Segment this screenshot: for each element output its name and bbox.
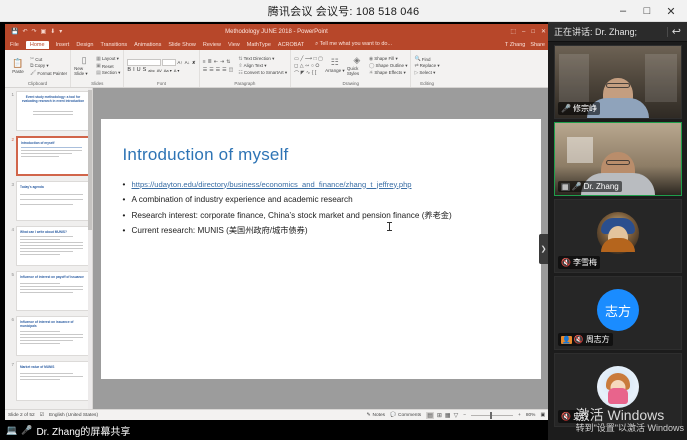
shape-flow-icon[interactable]: ◤ bbox=[301, 70, 305, 77]
ribbon-group-drawing: ▭╱⟶□▢ ◻△∾○⭘ ⌒◤∿{[ ☷ Arrange ▾ ◈ bbox=[291, 50, 411, 87]
screen-share-label: Dr. Zhang的屏幕共享 bbox=[36, 423, 130, 438]
participant-name: 周志方 bbox=[586, 334, 610, 345]
shape-arrow-icon[interactable]: ⟶ bbox=[305, 56, 312, 62]
zoom-out-button[interactable]: − bbox=[463, 413, 466, 418]
avatar-body bbox=[608, 388, 628, 404]
tab-mathtype[interactable]: MathType bbox=[247, 42, 271, 48]
smartart-icon: ☷ bbox=[238, 70, 242, 76]
ribbon-group-clipboard: 📋 Paste ✂Cut ⧉Copy ▾ 🖌Format Painter Cli… bbox=[5, 50, 71, 87]
paragraph-group-label: Paragraph bbox=[203, 81, 287, 87]
thumbnail-scrollbar[interactable] bbox=[88, 88, 92, 409]
participant-nametag: 🔇 李雪梅 bbox=[558, 256, 600, 269]
current-slide[interactable]: Introduction of myself https://udayton.e… bbox=[101, 119, 541, 379]
close-button[interactable]: ✕ bbox=[659, 0, 683, 22]
tab-acrobat[interactable]: ACROBAT bbox=[278, 42, 304, 48]
screen-share-icon: ▦ bbox=[561, 183, 570, 191]
strikethrough-button[interactable]: abc bbox=[148, 68, 154, 73]
zoom-slider-knob[interactable] bbox=[490, 412, 492, 419]
grow-font-button[interactable]: A↑ bbox=[177, 60, 182, 65]
thumbnail-scroll-thumb[interactable] bbox=[88, 90, 92, 230]
cut-button[interactable]: ✂Cut bbox=[30, 56, 67, 62]
window-controls: – □ ✕ bbox=[611, 0, 683, 22]
slide-bullet-link[interactable]: https://udayton.edu/directory/business/e… bbox=[123, 179, 519, 191]
participant-nametag: 🔇 史玲 bbox=[558, 410, 592, 423]
slide-thumbnail-4[interactable]: What can I write about MUNIS? bbox=[16, 226, 90, 266]
thumbnail-number: 6 bbox=[7, 316, 14, 356]
paintbrush-icon: 🖌 bbox=[30, 70, 36, 76]
layout-icon: ▦ bbox=[96, 56, 101, 62]
text-direction-button[interactable]: ⇅Text Direction ▾ bbox=[238, 56, 287, 62]
paste-button[interactable]: 📋 Paste bbox=[8, 59, 28, 74]
shape-line-icon[interactable]: ╱ bbox=[300, 56, 303, 62]
shrink-font-button[interactable]: A↓ bbox=[185, 60, 190, 65]
start-slideshow-icon[interactable]: ⬇ bbox=[50, 28, 55, 35]
font-name-input[interactable] bbox=[127, 59, 161, 66]
format-painter-button[interactable]: 🖌Format Painter bbox=[30, 70, 67, 76]
header-divider bbox=[667, 27, 668, 37]
shape-fill-button[interactable]: ◉Shape Fill ▾ bbox=[369, 56, 408, 62]
slide-bullet: Research interest: corporate finance, Ch… bbox=[123, 210, 519, 222]
new-slide-button[interactable]: ▯ New Slide ▾ bbox=[74, 56, 94, 77]
zoom-level[interactable]: 80% bbox=[526, 413, 536, 418]
search-icon: 🔍 bbox=[414, 56, 420, 62]
maximize-button[interactable]: □ bbox=[635, 0, 659, 22]
ribbon-group-paragraph: ≡ ≣ ⇤ ⇥ ⇅ ☰ ☰ ☰ bbox=[200, 50, 291, 87]
participant-name: Dr. Zhang bbox=[584, 182, 619, 191]
slide-thumbnail-5[interactable]: Influence of interest on payoff of issua… bbox=[16, 271, 90, 311]
text-cursor bbox=[389, 222, 390, 231]
meeting-title: 腾讯会议 会议号: 108 518 046 bbox=[268, 3, 420, 19]
drawing-group-label: Drawing bbox=[294, 81, 407, 87]
copy-button[interactable]: ⧉Copy ▾ bbox=[30, 63, 67, 69]
profile-link[interactable]: https://udayton.edu/directory/business/e… bbox=[132, 180, 412, 189]
avatar bbox=[597, 212, 639, 254]
participant-nametag: 🎤 修宗峥 bbox=[558, 102, 600, 115]
thumbnail-row[interactable]: 4 What can I write about MUNIS? bbox=[7, 226, 90, 266]
avatar: 志方 bbox=[597, 289, 639, 331]
line-spacing-button[interactable]: ⇅ bbox=[226, 59, 230, 65]
align-center-button[interactable]: ☰ bbox=[209, 67, 213, 73]
powerpoint-workspace: 1 Event study methodology: a tool for ev… bbox=[5, 88, 548, 409]
ribbon-group-editing: 🔍Find ⇄Replace ▾ ▷Select ▾ Editing bbox=[411, 50, 442, 87]
reset-icon: ▣ bbox=[96, 63, 101, 69]
comment-icon: 💬 bbox=[390, 413, 396, 418]
shape-arc-icon[interactable]: ⌒ bbox=[294, 70, 299, 77]
copy-icon: ⧉ bbox=[30, 63, 34, 69]
slide-canvas-area: Introduction of myself https://udayton.e… bbox=[93, 88, 548, 409]
video-tile-participant-5[interactable]: 🔇 史玲 bbox=[554, 353, 682, 427]
comments-button[interactable]: 💬Comments bbox=[390, 413, 421, 418]
powerpoint-document-title: Methodology JUNE 2018 - PowerPoint bbox=[5, 29, 548, 35]
tab-transitions[interactable]: Transitions bbox=[100, 42, 127, 48]
microphone-muted-icon: 🔇 bbox=[561, 258, 571, 267]
participant-name: 李雪梅 bbox=[573, 257, 597, 268]
spell-check-icon[interactable]: ☑ bbox=[40, 413, 44, 418]
change-case-button[interactable]: Aa ▾ bbox=[164, 68, 172, 73]
thumbnail-title: Influence of interest on issuance of mun… bbox=[20, 320, 86, 328]
screen-share-indicator-bar: 💻 🎤 Dr. Zhang的屏幕共享 bbox=[0, 420, 548, 440]
slide-bullet: A combination of industry experience and… bbox=[123, 194, 519, 206]
ppt-restore-button[interactable]: □ bbox=[531, 29, 535, 35]
tab-slide-show[interactable]: Slide Show bbox=[168, 42, 196, 48]
avatar-initials: 志方 bbox=[605, 301, 631, 320]
shape-square-icon[interactable]: □ bbox=[314, 56, 317, 62]
convert-smartart-button[interactable]: ☷Convert to SmartArt ▾ bbox=[238, 70, 287, 76]
clipboard-group-label: Clipboard bbox=[8, 81, 67, 87]
underline-button[interactable]: U bbox=[137, 67, 141, 73]
powerpoint-window-controls: ⬚ – □ ✕ bbox=[510, 28, 546, 35]
participant-nametag: ▦ 🎤 Dr. Zhang bbox=[558, 181, 622, 192]
host-badge-icon: 👤 bbox=[561, 336, 572, 344]
slide-thumbnail-2[interactable]: Introduction of myself bbox=[16, 136, 90, 176]
thumbnail-number: 5 bbox=[7, 271, 14, 311]
zoom-slider[interactable] bbox=[471, 415, 513, 416]
arrange-icon: ☷ bbox=[331, 58, 339, 67]
glasses-shape bbox=[606, 160, 630, 165]
account-name[interactable]: T Zhang bbox=[505, 42, 525, 48]
align-left-button[interactable]: ☰ bbox=[203, 67, 207, 73]
arrange-button[interactable]: ☷ Arrange ▾ bbox=[325, 58, 345, 74]
shape-wave-icon[interactable]: ∿ bbox=[306, 70, 310, 77]
tell-me-search[interactable]: ⌕ Tell me what you want to do... bbox=[315, 41, 392, 48]
thumbnail-title: What can I write about MUNIS? bbox=[20, 230, 86, 234]
shared-screen-area: 💾 ↶ ↷ ▣ ⬇ ▾ Methodology JUNE 2018 - Powe… bbox=[0, 22, 548, 440]
powerpoint-status-bar: Slide 2 of 52 ☑ English (United States) … bbox=[5, 409, 548, 420]
shape-oval-icon[interactable]: ⭘ bbox=[315, 63, 319, 69]
ribbon-group-slides: ▯ New Slide ▾ ▦Layout ▾ ▣Reset ▤Section … bbox=[71, 50, 124, 87]
tab-view[interactable]: View bbox=[228, 42, 240, 48]
font-group-label: Font bbox=[127, 81, 195, 87]
scissors-icon: ✂ bbox=[30, 56, 34, 62]
redo-icon[interactable]: ↷ bbox=[32, 28, 37, 35]
shape-circle-icon[interactable]: ○ bbox=[311, 63, 314, 69]
thumbnail-row[interactable]: 2 Introduction of myself bbox=[7, 136, 90, 176]
zoom-in-button[interactable]: + bbox=[518, 413, 521, 418]
shared-screen-content: 💾 ↶ ↷ ▣ ⬇ ▾ Methodology JUNE 2018 - Powe… bbox=[5, 24, 548, 420]
layout-button[interactable]: ▦Layout ▾ bbox=[96, 56, 120, 62]
font-color-button[interactable]: A ▾ bbox=[174, 68, 180, 73]
reset-button[interactable]: ▣Reset bbox=[96, 63, 120, 69]
clear-formatting-button[interactable]: ✘ bbox=[192, 60, 196, 66]
thumbnail-title: Influence of interest on payoff of issua… bbox=[20, 275, 86, 279]
text-direction-icon: ⇅ bbox=[238, 56, 242, 62]
thumbnail-row[interactable]: 3 Today's agenda bbox=[7, 181, 90, 221]
notes-button[interactable]: ✎Notes bbox=[366, 413, 385, 418]
normal-view-button[interactable]: ▤ bbox=[426, 412, 434, 419]
align-right-button[interactable]: ☰ bbox=[216, 67, 220, 73]
participant-name: 修宗峥 bbox=[573, 103, 597, 114]
thumbnail-title: Market value of MUNIS bbox=[20, 365, 86, 369]
tab-design[interactable]: Design bbox=[76, 42, 93, 48]
thumbnail-number: 4 bbox=[7, 226, 14, 266]
powerpoint-title-bar: 💾 ↶ ↷ ▣ ⬇ ▾ Methodology JUNE 2018 - Powe… bbox=[5, 24, 548, 39]
columns-button[interactable]: ◫ bbox=[229, 67, 234, 73]
microphone-icon: 🎤 bbox=[21, 425, 32, 436]
character-spacing-button[interactable]: AV bbox=[157, 68, 162, 73]
panel-collapse-handle[interactable]: ❯ bbox=[539, 234, 548, 264]
shape-rounded-icon[interactable]: ▢ bbox=[318, 56, 323, 62]
microphone-icon: 🎤 bbox=[572, 182, 582, 191]
glasses-shape bbox=[606, 83, 630, 88]
background-shelf bbox=[645, 54, 677, 102]
decrease-indent-button[interactable]: ⇤ bbox=[214, 59, 218, 65]
paragraph-row-2: ☰ ☰ ☰ ☰ ◫ bbox=[203, 67, 234, 73]
thumbnail-row[interactable]: 7 Market value of MUNIS bbox=[7, 361, 90, 401]
slide-bullet: Current research: MUNIS (美国州政府/城市债券) bbox=[123, 225, 519, 237]
tab-file[interactable]: File bbox=[10, 42, 19, 48]
avatar-cloak bbox=[601, 238, 635, 252]
thumbnail-number: 1 bbox=[7, 91, 14, 131]
slide-thumbnail-1[interactable]: Event study methodology: a tool for eval… bbox=[16, 91, 90, 131]
bold-button[interactable]: B bbox=[127, 67, 131, 73]
shape-curve-icon[interactable]: ∾ bbox=[305, 63, 309, 69]
shape-brace-icon[interactable]: { bbox=[312, 70, 314, 77]
shape-bracket-icon[interactable]: [ bbox=[315, 70, 316, 77]
section-button[interactable]: ▤Section ▾ bbox=[96, 70, 120, 76]
ribbon: 📋 Paste ✂Cut ⧉Copy ▾ 🖌Format Painter Cli… bbox=[5, 50, 548, 88]
tencent-meeting-window: 腾讯会议 会议号: 108 518 046 – □ ✕ 💾 ↶ ↷ ▣ bbox=[0, 0, 687, 440]
thumbnail-title: Introduction of myself bbox=[21, 141, 85, 145]
microphone-muted-icon: 🔇 bbox=[561, 412, 571, 421]
effects-icon: ☀ bbox=[369, 70, 373, 76]
fill-icon: ◉ bbox=[369, 56, 373, 62]
shape-gallery[interactable]: ▭╱⟶□▢ ◻△∾○⭘ ⌒◤∿{[ bbox=[294, 56, 323, 77]
editing-group-label: Editing bbox=[414, 81, 439, 87]
account-area: T Zhang Share bbox=[505, 42, 545, 48]
minimize-button[interactable]: – bbox=[611, 0, 635, 22]
language-indicator[interactable]: English (United States) bbox=[49, 413, 98, 418]
slide-thumbnail-6[interactable]: Influence of interest on issuance of mun… bbox=[16, 316, 90, 356]
slides-group-label: Slides bbox=[74, 81, 120, 87]
thumbnail-row[interactable]: 1 Event study methodology: a tool for ev… bbox=[7, 91, 90, 131]
video-tile-participant-1[interactable]: 🎤 修宗峥 bbox=[554, 45, 682, 119]
presentation-icon[interactable]: ▣ bbox=[41, 28, 47, 35]
ppt-minimize-button[interactable]: – bbox=[522, 29, 525, 35]
increase-indent-button[interactable]: ⇥ bbox=[220, 59, 224, 65]
back-arrow-icon[interactable]: ↩ bbox=[672, 25, 681, 38]
save-icon[interactable]: 💾 bbox=[11, 28, 18, 35]
slide-title[interactable]: Introduction of myself bbox=[123, 145, 519, 165]
ribbon-tab-bar: File Home Insert Design Transitions Anim… bbox=[5, 39, 548, 50]
justify-button[interactable]: ☰ bbox=[222, 67, 226, 73]
background-window bbox=[567, 137, 593, 163]
share-button[interactable]: Share bbox=[530, 42, 545, 48]
avatar bbox=[597, 366, 639, 408]
ribbon-group-font: A↑ A↓ ✘ B I U S bbox=[124, 50, 199, 87]
thumbnail-row[interactable]: 6 Influence of interest on issuance of m… bbox=[7, 316, 90, 356]
paste-icon: 📋 bbox=[12, 59, 23, 68]
customize-qat-icon[interactable]: ▾ bbox=[59, 28, 62, 35]
select-icon: ▷ bbox=[414, 70, 418, 76]
thumbnail-title: Event study methodology: a tool for eval… bbox=[20, 95, 86, 103]
panel-header: 正在讲话: Dr. Zhang; ↩ bbox=[548, 22, 687, 42]
outline-icon: ◯ bbox=[369, 63, 375, 69]
slide-sorter-button[interactable]: ⊞ bbox=[437, 412, 442, 419]
find-button[interactable]: 🔍Find bbox=[414, 56, 439, 62]
powerpoint-window: 💾 ↶ ↷ ▣ ⬇ ▾ Methodology JUNE 2018 - Powe… bbox=[5, 24, 548, 420]
ribbon-display-options-icon[interactable]: ⬚ bbox=[510, 28, 516, 35]
thumbnail-number: 7 bbox=[7, 361, 14, 401]
microphone-icon: 🎤 bbox=[561, 104, 571, 113]
slide-counter[interactable]: Slide 2 of 52 bbox=[8, 413, 35, 418]
window-title-bar: 腾讯会议 会议号: 108 518 046 – □ ✕ bbox=[0, 0, 687, 22]
active-speaker-label: 正在讲话: Dr. Zhang; bbox=[554, 25, 663, 38]
participant-nametag: 👤 🔇 周志方 bbox=[558, 333, 613, 346]
new-slide-icon: ▯ bbox=[82, 56, 87, 65]
quick-styles-icon: ◈ bbox=[353, 56, 360, 65]
italic-button[interactable]: I bbox=[133, 67, 135, 73]
screen-share-icon: 💻 bbox=[6, 425, 17, 436]
thumbnail-number: 2 bbox=[7, 136, 14, 176]
thumbnail-row[interactable]: 5 Influence of interest on payoff of iss… bbox=[7, 271, 90, 311]
tab-home[interactable]: Home bbox=[26, 41, 49, 49]
thumbnail-title: Today's agenda bbox=[20, 185, 86, 189]
shape-outline-button[interactable]: ◯Shape Outline ▾ bbox=[369, 63, 408, 69]
replace-button[interactable]: ⇄Replace ▾ bbox=[414, 63, 439, 69]
quick-access-toolbar: 💾 ↶ ↷ ▣ ⬇ ▾ bbox=[5, 28, 62, 35]
paragraph-row-1: ≡ ≣ ⇤ ⇥ ⇅ bbox=[203, 59, 234, 65]
section-icon: ▤ bbox=[96, 70, 101, 76]
align-text-icon: ⇳ bbox=[238, 63, 242, 69]
reading-view-button[interactable]: ▦ bbox=[445, 412, 451, 419]
video-tile-list: 🎤 修宗峥 ▦ 🎤 Dr. Zhang bbox=[548, 42, 687, 440]
replace-icon: ⇄ bbox=[414, 63, 418, 69]
video-tile-participant-3[interactable]: 🔇 李雪梅 bbox=[554, 199, 682, 273]
background-shelf bbox=[559, 54, 589, 102]
microphone-muted-icon: 🔇 bbox=[574, 335, 584, 344]
shape-box-icon[interactable]: ◻ bbox=[294, 63, 298, 69]
participants-panel: 正在讲话: Dr. Zhang; ↩ 🎤 修宗峥 bbox=[548, 22, 687, 440]
tab-animations[interactable]: Animations bbox=[134, 42, 161, 48]
video-tile-participant-4[interactable]: 志方 👤 🔇 周志方 bbox=[554, 276, 682, 350]
slide-bullet-list: https://udayton.edu/directory/business/e… bbox=[123, 179, 519, 237]
shadow-button[interactable]: S bbox=[143, 67, 147, 73]
tab-review[interactable]: Review bbox=[203, 42, 221, 48]
view-buttons: ▤ ⊞ ▦ ▽ bbox=[426, 412, 458, 419]
meeting-body: 💾 ↶ ↷ ▣ ⬇ ▾ Methodology JUNE 2018 - Powe… bbox=[0, 22, 687, 440]
shape-rect-icon[interactable]: ▭ bbox=[294, 56, 299, 62]
ppt-close-button[interactable]: ✕ bbox=[541, 28, 546, 35]
tab-insert[interactable]: Insert bbox=[56, 42, 70, 48]
quick-styles-button[interactable]: ◈ Quick Styles bbox=[347, 56, 367, 76]
thumbnail-number: 3 bbox=[7, 181, 14, 221]
numbering-button[interactable]: ≣ bbox=[208, 59, 212, 65]
font-size-input[interactable] bbox=[162, 59, 176, 66]
select-button[interactable]: ▷Select ▾ bbox=[414, 70, 439, 76]
shape-effects-button[interactable]: ☀Shape Effects ▾ bbox=[369, 70, 408, 76]
align-text-button[interactable]: ⇳Align Text ▾ bbox=[238, 63, 287, 69]
video-tile-participant-2[interactable]: ▦ 🎤 Dr. Zhang bbox=[554, 122, 682, 196]
slideshow-button[interactable]: ▽ bbox=[454, 412, 459, 419]
shape-triangle-icon[interactable]: △ bbox=[300, 63, 304, 69]
fit-slide-icon[interactable]: ▣ bbox=[540, 413, 545, 418]
bullets-button[interactable]: ≡ bbox=[203, 59, 206, 65]
slide-thumbnail-7[interactable]: Market value of MUNIS bbox=[16, 361, 90, 401]
undo-icon[interactable]: ↶ bbox=[22, 28, 27, 35]
notes-icon: ✎ bbox=[366, 413, 370, 418]
participant-name: 史玲 bbox=[573, 411, 589, 422]
slide-thumbnail-3[interactable]: Today's agenda bbox=[16, 181, 90, 221]
slide-thumbnail-panel[interactable]: 1 Event study methodology: a tool for ev… bbox=[5, 88, 93, 409]
